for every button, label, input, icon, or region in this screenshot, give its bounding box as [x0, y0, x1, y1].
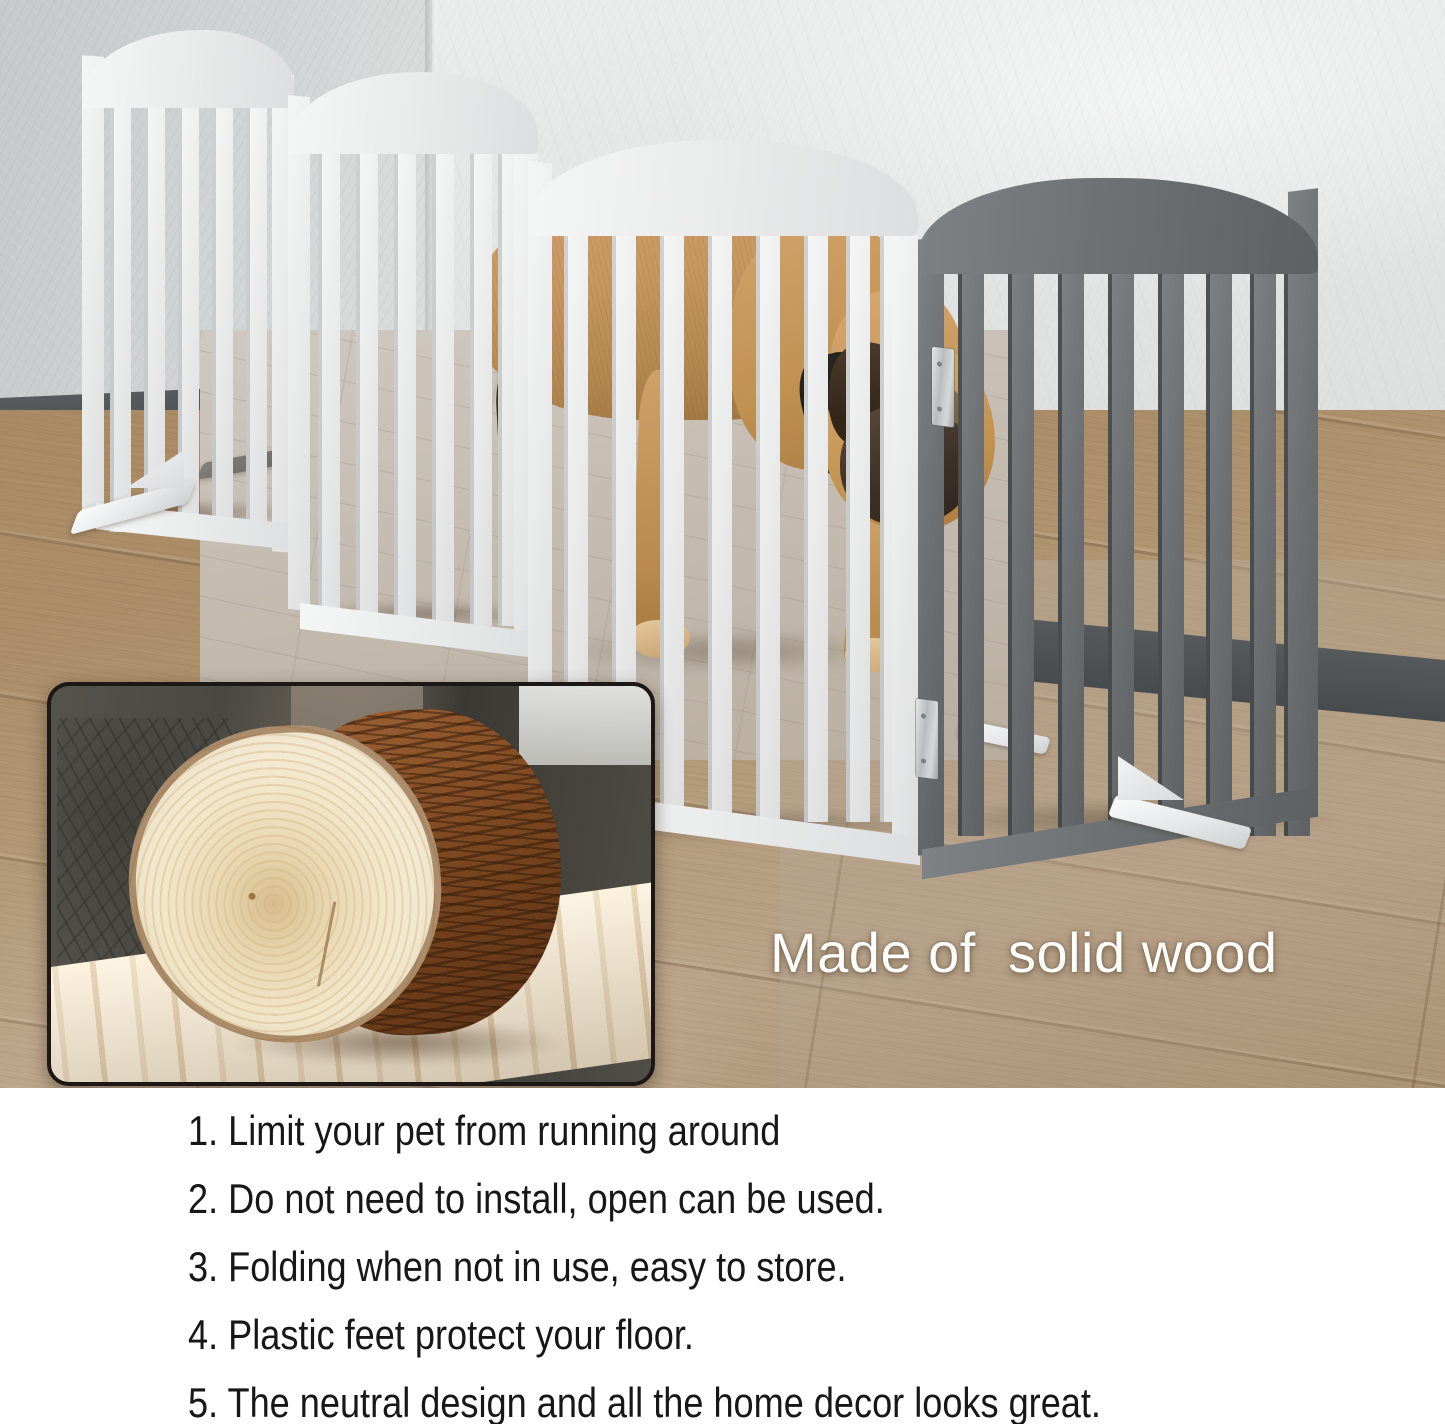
panel-3-top-rail: [528, 140, 918, 236]
panel-3-slat-5-face: [760, 212, 780, 822]
panel-3-slat-7-face: [850, 212, 870, 822]
panel-4-slat-3-face: [1062, 248, 1084, 836]
solid-wood-inset-photo: [47, 682, 655, 1086]
gate-panel-2[interactable]: [288, 72, 538, 644]
panel-4-slat-7-face: [1254, 248, 1276, 836]
gate-foot-left: [74, 446, 194, 518]
panel-2-slat-3-face: [398, 134, 416, 626]
panel-4-right-stile: [1288, 188, 1318, 792]
list-item: 2. Do not need to install, open can be u…: [188, 1178, 885, 1220]
foot-web: [126, 450, 184, 488]
panel-4-slat-4-face: [1112, 248, 1134, 836]
foot-web: [1118, 756, 1184, 800]
gate-foot-right: [1112, 752, 1250, 834]
log-heartwood-center: [248, 892, 255, 899]
panel-3-slat-4-face: [712, 212, 732, 822]
log-crack: [317, 901, 336, 986]
feature-list: 1. Limit your pet from running around 2.…: [0, 1088, 1445, 1424]
panel-4-slat-5-face: [1162, 248, 1184, 836]
panel-4-slat-1-face: [962, 248, 984, 836]
product-image-composite: Made of solid wood 1. Limit your pet fro…: [0, 0, 1445, 1424]
panel-2-top-rail: [288, 72, 538, 154]
list-item: 5. The neutral design and all the home d…: [188, 1382, 1101, 1424]
panel-3-slat-3-face: [664, 212, 684, 822]
panel-1-slat-4-face: [216, 88, 233, 532]
hinge-upper: [932, 347, 954, 428]
panel-2-slat-2-face: [360, 134, 378, 626]
panel-3-right-stile: [892, 205, 918, 848]
solid-wood-caption: Made of solid wood: [770, 920, 1278, 985]
gate-panel-4[interactable]: [918, 178, 1318, 848]
panel-4-slat-2-face: [1012, 248, 1034, 836]
panel-2-slat-4-face: [436, 134, 454, 626]
hinge-lower: [916, 699, 938, 780]
panel-4-top-rail: [918, 178, 1318, 274]
main-product-photo: Made of solid wood: [0, 0, 1445, 1088]
panel-4-slat-6-face: [1210, 248, 1232, 836]
panel-2-slat-5-face: [474, 134, 492, 626]
list-item: 3. Folding when not in use, easy to stor…: [188, 1246, 847, 1288]
inset-background-window: [519, 686, 651, 765]
panel-2-slat-1-face: [322, 134, 340, 626]
panel-1-top-rail: [82, 30, 294, 108]
list-item: 1. Limit your pet from running around: [188, 1110, 780, 1152]
panel-1-slat-5-face: [250, 88, 267, 532]
list-item: 4. Plastic feet protect your floor.: [188, 1314, 694, 1356]
panel-2-left-stile: [288, 95, 310, 611]
panel-3-slat-6-face: [808, 212, 828, 822]
